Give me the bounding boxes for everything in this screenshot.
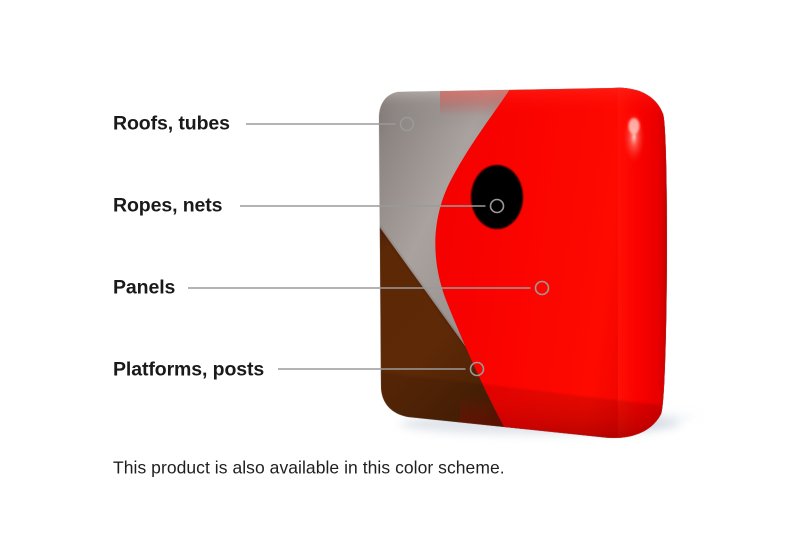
callout-label-panels: Panels (113, 277, 175, 300)
callout-label-roofs-tubes: Roofs, tubes (113, 113, 230, 136)
product-illustration (0, 0, 800, 533)
specular-core (629, 118, 640, 134)
black-dot (471, 165, 523, 229)
product-body (370, 60, 700, 460)
figure-caption: This product is also available in this c… (113, 458, 505, 479)
callout-label-ropes-nets: Ropes, nets (113, 195, 222, 218)
figure-canvas: Roofs, tubes Ropes, nets Panels Platform… (0, 0, 800, 533)
red-top-edge-shade (440, 82, 700, 116)
callout-label-platforms-posts: Platforms, posts (113, 359, 264, 382)
